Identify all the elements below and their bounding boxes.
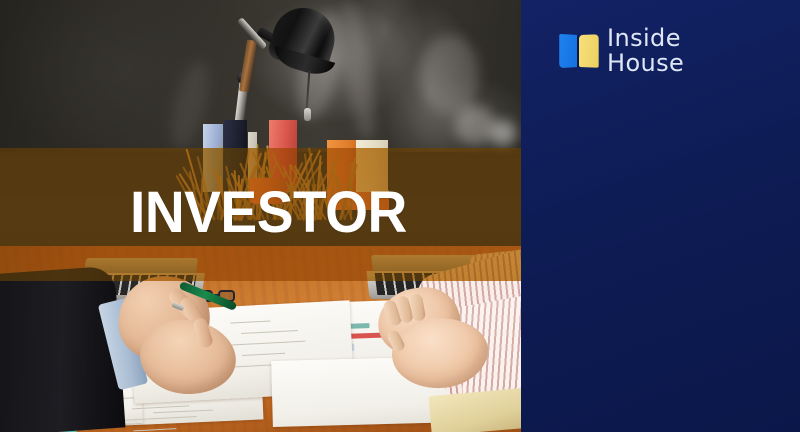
chart-rule bbox=[241, 330, 298, 334]
chalk-smudge bbox=[490, 120, 516, 146]
chart-rule bbox=[242, 353, 285, 356]
investor-banner: INVESTOR Inside House bbox=[0, 0, 800, 432]
chart-rule bbox=[230, 320, 270, 323]
lamp-wood-arm bbox=[239, 40, 257, 93]
logo-name-line1: Inside bbox=[607, 26, 684, 51]
chart-rule bbox=[232, 341, 306, 346]
logo-name-line2: House bbox=[607, 51, 684, 76]
lamp-pull-cord bbox=[306, 70, 311, 110]
book-page-right bbox=[579, 34, 599, 67]
book-page-left bbox=[559, 34, 578, 68]
logo-wordmark: Inside House bbox=[607, 26, 684, 76]
brand-panel: Inside House bbox=[521, 0, 800, 432]
logo[interactable]: Inside House bbox=[560, 26, 684, 76]
chalk-smudge bbox=[455, 105, 495, 145]
open-book-icon bbox=[560, 35, 598, 67]
yellow-folder bbox=[428, 388, 521, 432]
chalk-smudge bbox=[420, 35, 480, 115]
book-spine bbox=[577, 35, 579, 67]
hero-photo: INVESTOR bbox=[0, 0, 521, 432]
left-person-suit-sleeve bbox=[0, 266, 125, 432]
page-title: INVESTOR bbox=[130, 184, 407, 242]
chart-rule bbox=[153, 410, 213, 414]
